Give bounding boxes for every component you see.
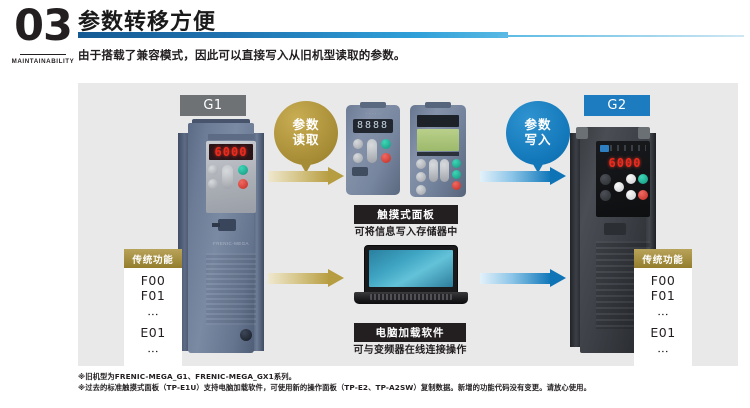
tp1-display-value: 8888 [353, 119, 393, 133]
ellipsis-vertical: ⋮ [151, 306, 156, 322]
page-root: 03 MAINTAINABILITY 参数转移方便 由于搭载了兼容模式，因此可以… [0, 0, 750, 408]
badge-touch-panel: 触摸式面板 [354, 205, 458, 224]
tp2-key-fwd[interactable] [452, 170, 461, 179]
tp2-key-2[interactable] [416, 172, 426, 182]
bubble-write-line2: 写入 [506, 132, 570, 147]
footnote-2: ※过去的标准触摸式面板（TP-E1U）支持电脑加载软件，可使用新的操作面板（TP… [78, 383, 738, 394]
arrow-shaft [268, 273, 328, 284]
g1-keypad-buttons [208, 165, 254, 199]
tp2-key-prog[interactable] [440, 159, 449, 182]
caption-touch-panel: 可将信息写入存储器中 [334, 223, 478, 238]
ellipsis-vertical: ⋮ [661, 306, 666, 322]
g1-key-down[interactable] [208, 179, 218, 189]
function-code: E01 [634, 325, 692, 340]
bubble-write-line1: 参数 [506, 101, 570, 132]
g1-connector [218, 219, 236, 231]
function-card-right-badge: 传统功能 [634, 249, 692, 268]
title-underline-thick [78, 32, 508, 38]
g2-status-leds [610, 145, 646, 151]
title-underline-thin [498, 35, 744, 37]
g2-key-run[interactable] [638, 174, 648, 184]
tp2-key-shift[interactable] [429, 159, 438, 182]
fuji-logo-icon [600, 145, 609, 152]
function-card-left-body: F00 F01 ⋮ E01 ⋮ [124, 268, 182, 369]
g2-key-down[interactable] [626, 190, 636, 200]
tp1-key-down[interactable] [353, 153, 363, 163]
tp2-clip [425, 102, 451, 108]
lead-paragraph: 由于搭载了兼容模式，因此可以直接写入从旧机型读取的参数。 [78, 47, 406, 63]
touch-panel-tpe1u: · · · · · 8888 [346, 105, 400, 195]
function-card-left-badge: 传统功能 [124, 249, 182, 268]
arrow-shaft [268, 171, 328, 182]
function-card-left: 传统功能 F00 F01 ⋮ E01 ⋮ [124, 249, 182, 369]
tp2-led-display [417, 115, 459, 127]
tp1-key-stop[interactable] [381, 153, 391, 163]
function-code: F01 [124, 288, 182, 303]
g1-display-value: 6000 [215, 145, 248, 159]
arrow-head [328, 269, 344, 287]
g1-key-up[interactable] [208, 165, 218, 175]
g2-key-home[interactable] [600, 174, 611, 185]
tp1-clip [360, 102, 386, 108]
badge-g1: G1 [180, 95, 246, 116]
tp1-display: 8888 [353, 119, 393, 133]
g1-body: 6000 FRENIC-MEGA [188, 123, 254, 353]
arrow-head [550, 167, 566, 185]
touch-panel-tpa2sw [410, 105, 466, 197]
title-underline [78, 32, 738, 41]
laptop-base [354, 292, 468, 304]
ellipsis-vertical: ⋮ [151, 343, 156, 359]
arrow-shaft [480, 273, 550, 284]
tp2-lcd-display [417, 129, 459, 151]
arrow-blue-from-panel [480, 167, 566, 185]
pc-laptop [354, 245, 468, 307]
g2-key-menu[interactable] [600, 190, 611, 201]
arrow-blue-from-pc [480, 269, 566, 287]
g2-display-value: 6000 [609, 156, 642, 170]
arrow-shaft [480, 171, 550, 182]
g2-mount-bracket-left [576, 127, 588, 139]
function-code: E01 [124, 325, 182, 340]
arrow-gold-to-pc [268, 269, 344, 287]
g1-key-stop[interactable] [238, 179, 248, 189]
tp1-key-up[interactable] [353, 139, 363, 149]
g2-key-stop[interactable] [638, 190, 648, 200]
g2-mount-bracket-right [638, 127, 650, 139]
caption-pc-software: 可与变频器在线连接操作 [334, 341, 486, 356]
g2-keypad-buttons [600, 174, 648, 212]
bubble-read-line1: 参数 [274, 101, 338, 132]
function-code: F00 [634, 273, 692, 288]
tp2-key-run[interactable] [452, 159, 461, 168]
g1-keypad-header [208, 134, 254, 140]
laptop-lid [364, 245, 458, 293]
inverter-g1: 6000 FRENIC-MEGA [178, 123, 264, 353]
badge-g2: G2 [584, 95, 650, 116]
function-card-right-body: F00 F01 ⋮ E01 ⋮ [634, 268, 692, 369]
function-code: F01 [634, 288, 692, 303]
bubble-parameter-read: 参数 读取 [274, 101, 338, 165]
tp1-indicator-labels: · · · · · [353, 112, 393, 116]
bubble-parameter-write: 参数 写入 [506, 101, 570, 165]
tp2-label-strip [417, 152, 459, 156]
tp2-key-stop[interactable] [452, 181, 461, 190]
g1-led-display: 6000 [209, 144, 253, 160]
tp1-key-shift[interactable] [367, 139, 377, 163]
bubble-read-line2: 读取 [274, 132, 338, 147]
g2-key-func[interactable] [614, 182, 624, 192]
g1-vent-grille [206, 253, 256, 325]
tp1-key-run[interactable] [381, 139, 391, 149]
tp2-key-3[interactable] [416, 185, 426, 195]
tp1-connector [352, 167, 368, 176]
arrow-head [328, 167, 344, 185]
g2-connector [604, 223, 626, 235]
g1-brand-label: FRENIC-MEGA [208, 241, 254, 246]
divider-rule [20, 54, 66, 55]
tp2-key-1[interactable] [416, 159, 426, 169]
footnote-1: ※旧机型为FRENIC-MEGA_G1、FRENIC-MEGA_GX1系列。 [78, 372, 738, 383]
g1-key-run[interactable] [238, 165, 248, 175]
g1-key-shift[interactable] [222, 165, 233, 189]
section-number: 03 [8, 4, 78, 48]
g2-key-up[interactable] [626, 174, 636, 184]
page-header: 03 MAINTAINABILITY 参数转移方便 由于搭载了兼容模式，因此可以… [0, 0, 750, 78]
laptop-screen [369, 250, 453, 287]
section-number-block: 03 MAINTAINABILITY [8, 4, 78, 65]
laptop-keyboard [370, 294, 452, 300]
arrow-gold-to-panel [268, 167, 344, 185]
badge-pc-software: 电脑加载软件 [354, 323, 466, 342]
g1-screw [240, 329, 252, 341]
footnotes: ※旧机型为FRENIC-MEGA_G1、FRENIC-MEGA_GX1系列。 ※… [78, 372, 738, 393]
g2-keypad: 6000 [596, 141, 650, 217]
section-category: MAINTAINABILITY [8, 58, 78, 65]
function-card-right: 传统功能 F00 F01 ⋮ E01 ⋮ [634, 249, 692, 369]
function-code: F00 [124, 273, 182, 288]
diagram-panel: G1 6000 FRENIC-MEGA [78, 83, 738, 366]
arrow-head [550, 269, 566, 287]
ellipsis-vertical: ⋮ [661, 343, 666, 359]
g2-led-display: 6000 [605, 155, 645, 170]
